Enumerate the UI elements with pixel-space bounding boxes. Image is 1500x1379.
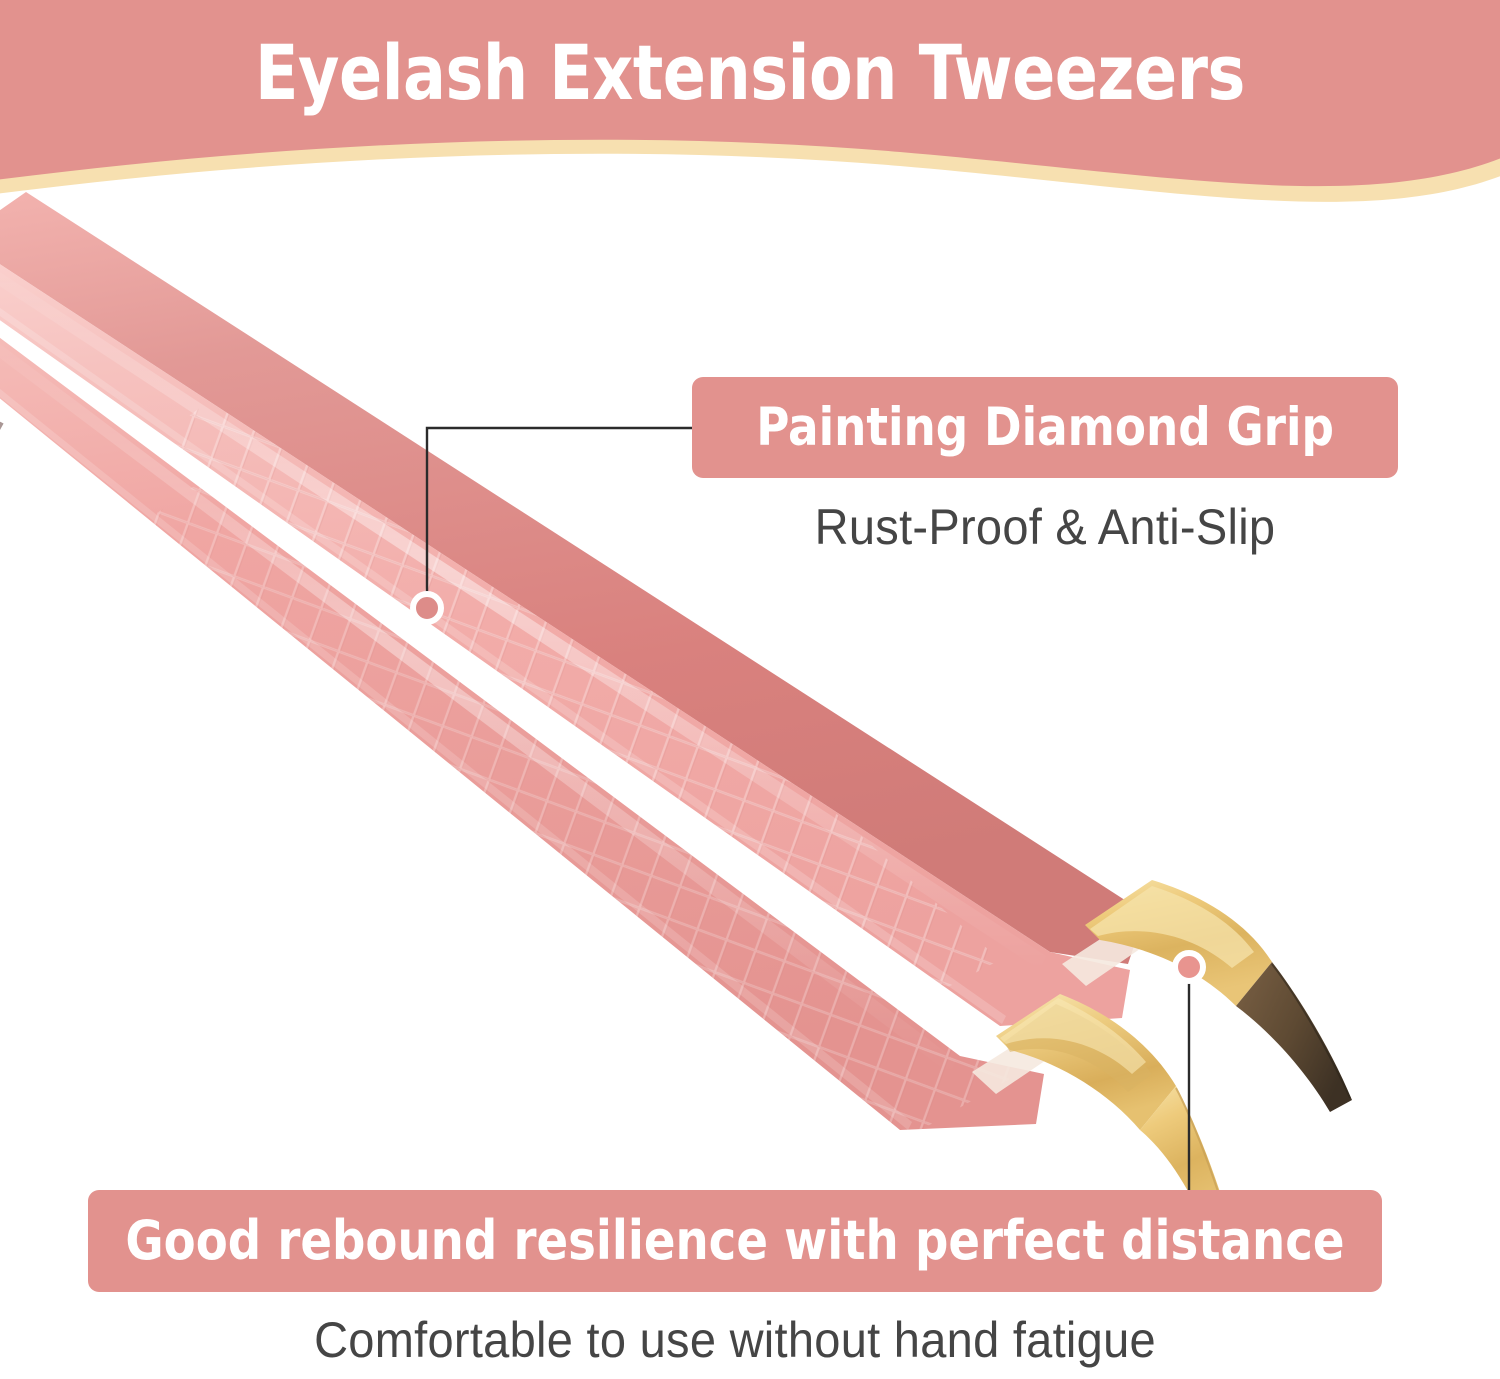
tweezer-upper-arm xyxy=(0,192,1145,1026)
callout-label: Painting Diamond Grip xyxy=(756,398,1334,458)
product-image: Ms.W xyxy=(0,180,1420,1190)
grip-marker-ring xyxy=(410,591,444,625)
callout-box-good-rebound-resilience: Good rebound resilience with perfect dis… xyxy=(88,1190,1382,1292)
tip-marker-ring xyxy=(1172,950,1206,984)
callout-label: Good rebound resilience with perfect dis… xyxy=(125,1210,1344,1272)
callout-subtitle: Rust-Proof & Anti-Slip xyxy=(713,497,1377,557)
product-infographic: Eyelash Extension Tweezers xyxy=(0,0,1500,1379)
callout-box-painting-diamond-grip: Painting Diamond Grip xyxy=(692,377,1398,478)
page-title: Eyelash Extension Tweezers xyxy=(53,27,1448,119)
callout-subtitle: Comfortable to use without hand fatigue xyxy=(127,1310,1343,1370)
